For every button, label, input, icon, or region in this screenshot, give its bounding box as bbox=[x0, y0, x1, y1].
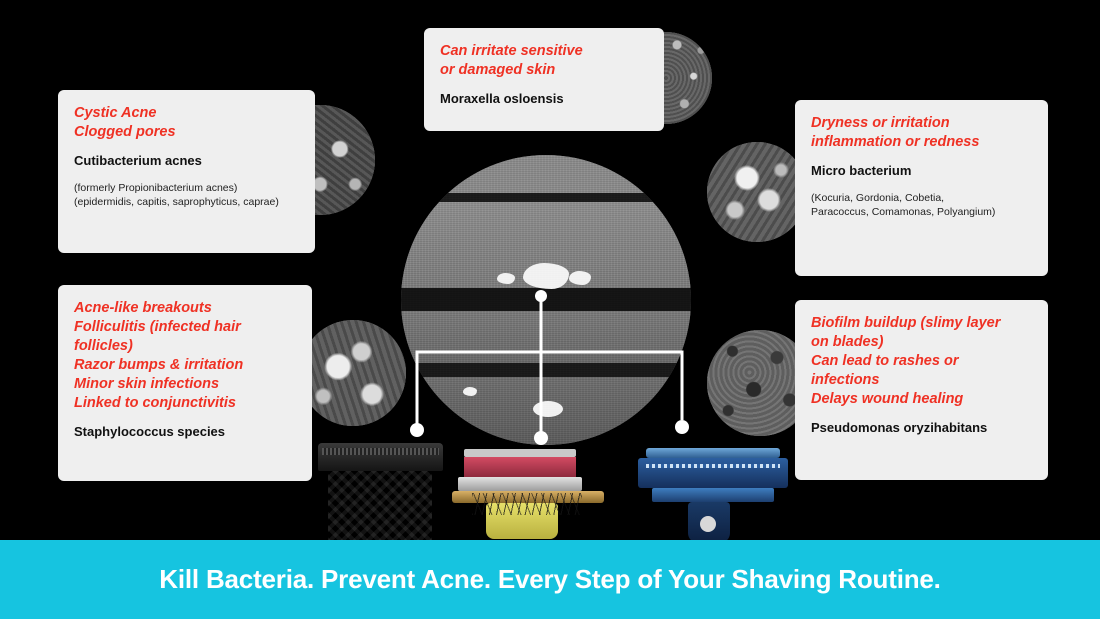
razor-black bbox=[318, 443, 443, 543]
razor-blade-edge bbox=[322, 448, 439, 455]
razor-cap bbox=[464, 449, 576, 457]
razor-handle-button bbox=[700, 516, 716, 532]
infographic-canvas: Cystic Acne Clogged pores Cutibacterium … bbox=[0, 0, 1100, 619]
razor-blue bbox=[638, 448, 788, 543]
card-cutibacterium: Cystic Acne Clogged pores Cutibacterium … bbox=[58, 90, 315, 253]
hair-debris bbox=[472, 493, 582, 515]
micrograph-staphylococcus bbox=[300, 320, 406, 426]
card-headline: Acne-like breakouts Folliculitis (infect… bbox=[74, 299, 296, 413]
micrograph-center-blade bbox=[401, 155, 691, 445]
razor-lower-band bbox=[652, 488, 774, 502]
razor-handle bbox=[328, 471, 432, 543]
micrograph-microbacterium bbox=[707, 142, 807, 242]
card-headline: Can irritate sensitive or damaged skin bbox=[440, 42, 648, 80]
micrograph-grain bbox=[401, 155, 691, 445]
banner-text: Kill Bacteria. Prevent Acne. Every Step … bbox=[0, 564, 1100, 595]
card-headline: Biofilm buildup (slimy layer on blades) … bbox=[811, 314, 1032, 409]
card-species: Pseudomonas oryzihabitans bbox=[811, 419, 1032, 436]
razor-cap bbox=[646, 448, 780, 458]
card-headline: Cystic Acne Clogged pores bbox=[74, 104, 299, 142]
card-staphylococcus: Acne-like breakouts Folliculitis (infect… bbox=[58, 285, 312, 481]
card-note: (Kocuria, Gordonia, Cobetia, Paracoccus,… bbox=[811, 191, 1032, 219]
razor-blade-edge bbox=[458, 477, 582, 491]
razor-pink bbox=[452, 449, 604, 539]
micrograph-texture bbox=[707, 142, 807, 242]
card-species: Cutibacterium acnes bbox=[74, 152, 299, 169]
bottom-banner: Kill Bacteria. Prevent Acne. Every Step … bbox=[0, 540, 1100, 619]
razor-blade-edge bbox=[646, 464, 780, 468]
card-moraxella: Can irritate sensitive or damaged skin M… bbox=[424, 28, 664, 131]
card-species: Staphylococcus species bbox=[74, 423, 296, 440]
card-species: Moraxella osloensis bbox=[440, 90, 648, 107]
card-species: Micro bacterium bbox=[811, 162, 1032, 179]
razor-pink-band bbox=[464, 457, 576, 477]
card-note: (formerly Propionibacterium acnes) (epid… bbox=[74, 181, 299, 209]
razor-cartridge bbox=[638, 458, 788, 488]
card-pseudomonas: Biofilm buildup (slimy layer on blades) … bbox=[795, 300, 1048, 480]
card-microbacterium: Dryness or irritation inflammation or re… bbox=[795, 100, 1048, 276]
card-headline: Dryness or irritation inflammation or re… bbox=[811, 114, 1032, 152]
micrograph-texture bbox=[300, 320, 406, 426]
